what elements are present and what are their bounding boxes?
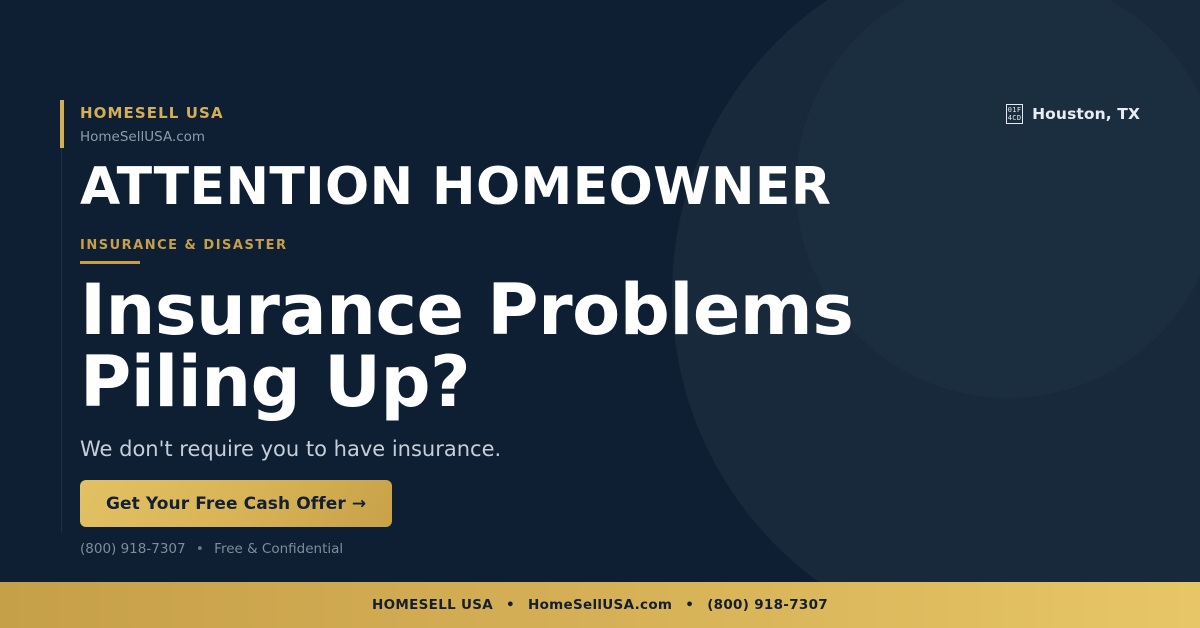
contact-phone: (800) 918-7307 (80, 541, 186, 557)
page-title: Insurance Problems Piling Up? (80, 274, 853, 418)
footer-bar: HOMESELL USA • HomeSellUSA.com • (800) 9… (0, 582, 1200, 628)
footer-separator-one: • (498, 597, 523, 613)
eyebrow-underline (80, 261, 140, 264)
brand-block: HOMESELL USA HomeSellUSA.com (80, 104, 224, 145)
location-badge: 01F 4CD Houston, TX (1006, 104, 1140, 124)
category-eyebrow: INSURANCE & DISASTER (80, 238, 288, 253)
banner-content: HOMESELL USA HomeSellUSA.com 01F 4CD Hou… (0, 0, 1200, 582)
location-label: Houston, TX (1032, 105, 1140, 123)
contact-line: (800) 918-7307 • Free & Confidential (80, 541, 343, 559)
attention-heading: ATTENTION HOMEOWNER (80, 160, 831, 215)
footer-separator-two: • (677, 597, 702, 613)
map-pin-icon-codepoint-top: 01F (1008, 106, 1022, 114)
footer-content: HOMESELL USA • HomeSellUSA.com • (800) 9… (372, 597, 828, 613)
footer-brand: HOMESELL USA (372, 597, 493, 613)
footer-website: HomeSellUSA.com (528, 597, 672, 613)
ad-banner: HOMESELL USA HomeSellUSA.com 01F 4CD Hou… (0, 0, 1200, 628)
map-pin-icon-codepoint-bottom: 4CD (1008, 114, 1022, 122)
map-pin-icon: 01F 4CD (1006, 104, 1023, 124)
brand-name: HOMESELL USA (80, 104, 224, 122)
brand-website: HomeSellUSA.com (80, 129, 224, 145)
footer-phone: (800) 918-7307 (707, 597, 828, 613)
get-free-cash-offer-button[interactable]: Get Your Free Cash Offer → (80, 480, 392, 527)
contact-separator: • (190, 541, 210, 557)
hero-subtitle: We don't require you to have insurance. (80, 436, 501, 463)
contact-note: Free & Confidential (214, 541, 343, 557)
